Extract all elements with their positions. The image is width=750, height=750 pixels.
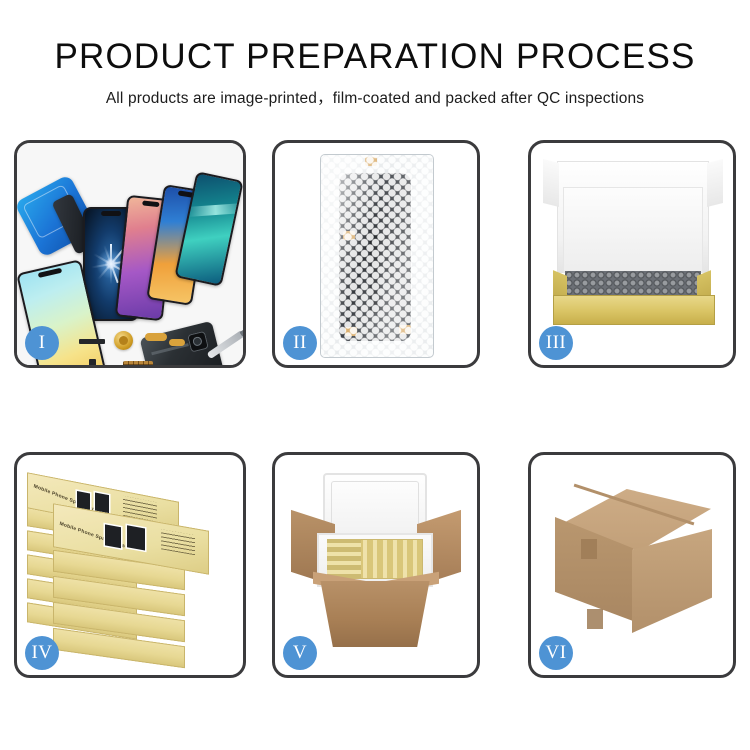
small-part	[79, 339, 105, 344]
tape-piece	[581, 539, 597, 559]
step-badge-5: V	[283, 636, 317, 670]
process-step-5: V	[272, 452, 480, 678]
notch-shape	[101, 211, 121, 216]
yellow-tray-front	[553, 295, 715, 325]
small-part	[89, 359, 96, 365]
step-badge-1: I	[25, 326, 59, 360]
notch-shape	[38, 268, 62, 278]
process-step-4: Mobile Phone Spare Parts Mobile Phone Sp…	[14, 452, 246, 678]
camera-module-shape	[187, 331, 209, 353]
step-badge-2: II	[283, 326, 317, 360]
plastic-sheen	[321, 155, 433, 357]
process-step-1: I	[14, 140, 246, 368]
step-badge-6: VI	[539, 636, 573, 670]
notch-shape	[142, 200, 159, 207]
streak-graphic	[186, 203, 243, 217]
packed-retail-boxes-image	[327, 539, 423, 579]
vertical-box-stack	[327, 539, 361, 579]
process-step-grid: I II	[0, 0, 750, 750]
process-step-3: III	[528, 140, 736, 368]
lid-flap-right	[707, 159, 723, 207]
process-step-2: II	[272, 140, 480, 368]
bubble-wrap-package-image	[321, 155, 433, 357]
label-spec-lines	[161, 529, 195, 555]
label-window	[105, 524, 121, 548]
step-badge-4: IV	[25, 636, 59, 670]
foam-liner-image	[563, 187, 703, 273]
step-badge-3: III	[539, 326, 573, 360]
chip-grid-part	[123, 361, 153, 365]
flex-cable-part	[169, 339, 185, 346]
lid-flap-left	[543, 159, 559, 207]
tape-piece	[587, 609, 603, 629]
carton-front-face	[313, 581, 437, 647]
label-window	[127, 525, 145, 550]
flex-cable-part	[145, 333, 167, 341]
speaker-coil-part	[114, 331, 133, 350]
process-step-6: VI	[528, 452, 736, 678]
